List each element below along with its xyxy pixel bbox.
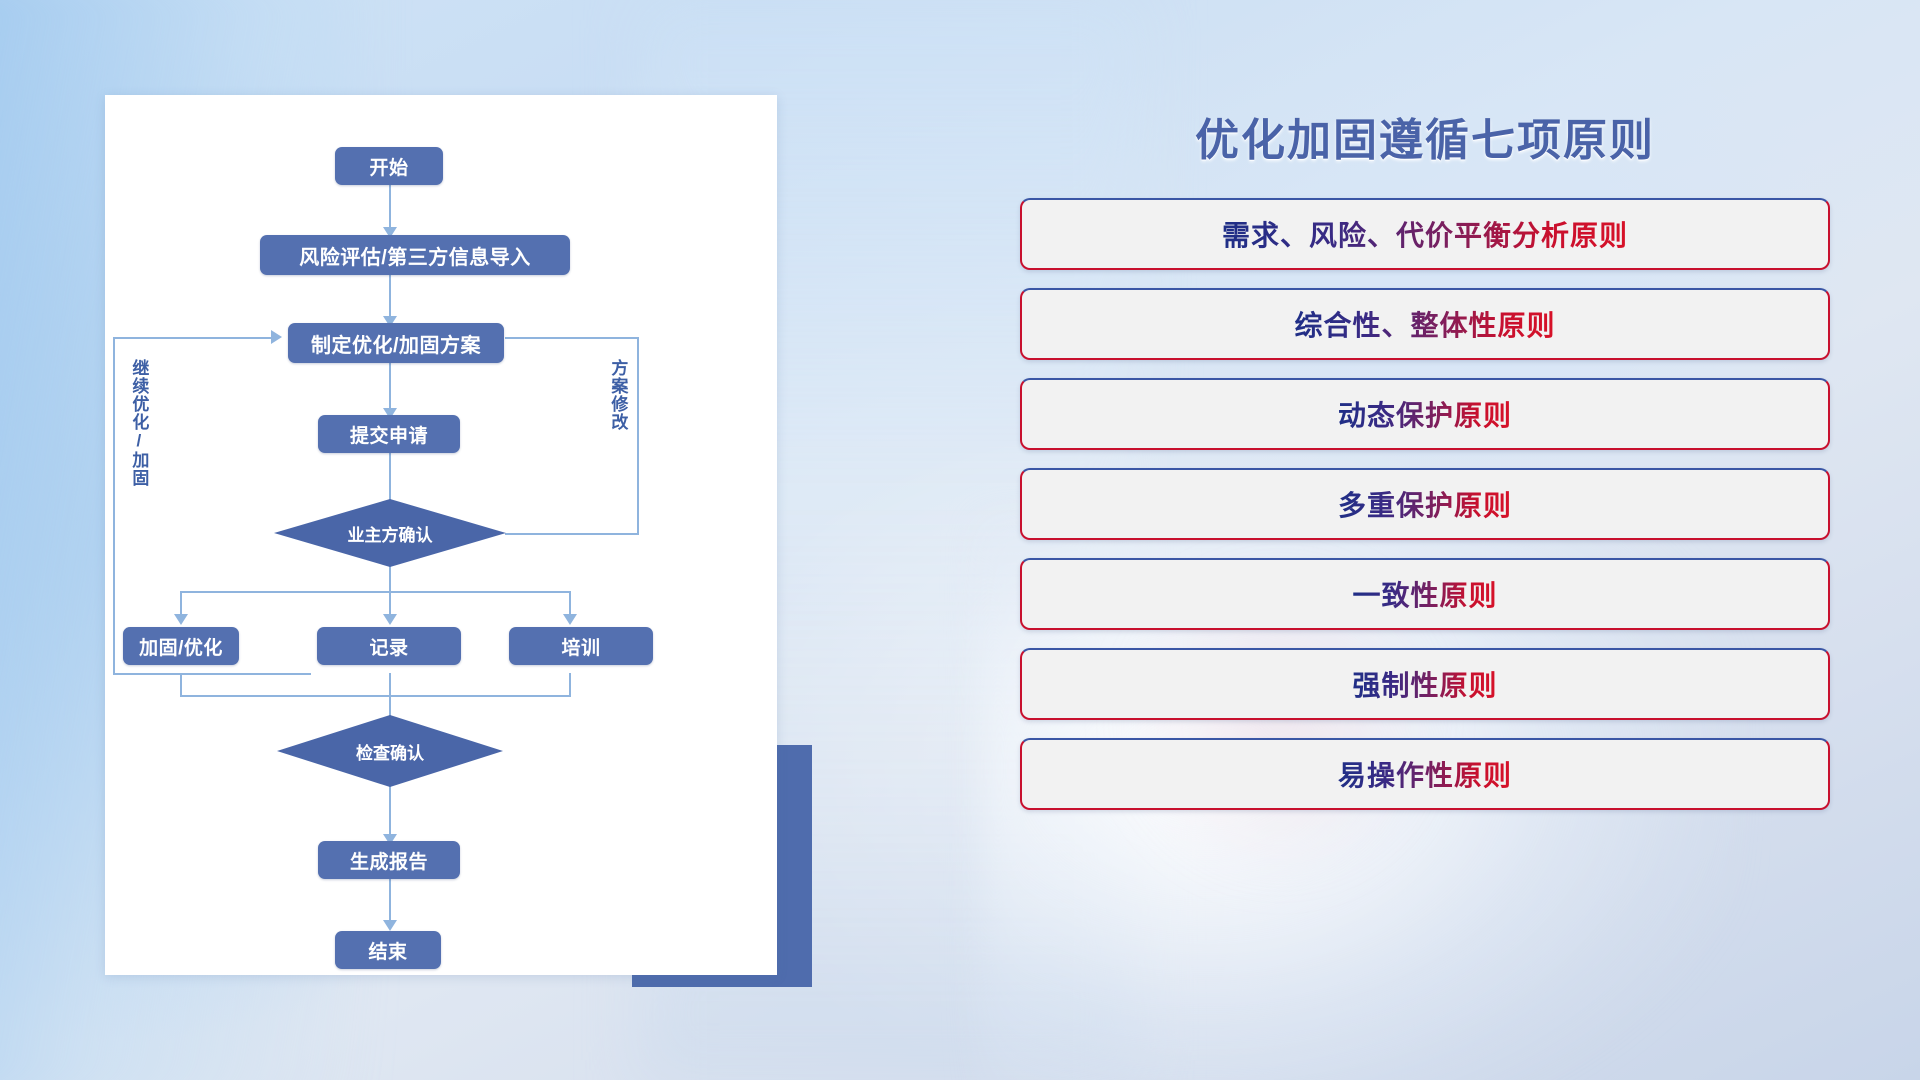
flowchart-card: 开始 风险评估/第三方信息导入 制定优化/加固方案 提交申请 业主方确认 加固/…	[105, 95, 777, 975]
flow-node-plan[interactable]: 制定优化/加固方案	[288, 323, 504, 363]
flow-node-submit[interactable]: 提交申请	[318, 415, 460, 453]
flow-node-record-label: 记录	[369, 633, 408, 660]
connector-plan-to-submit	[389, 361, 391, 413]
principle-card-1[interactable]: 需求、风险、代价平衡分析原则	[1020, 198, 1830, 270]
connector-loop-right-vertical	[637, 337, 639, 535]
flow-node-owner-confirm[interactable]: 业主方确认	[274, 499, 506, 567]
principle-card-2[interactable]: 综合性、整体性原则	[1020, 288, 1830, 360]
flowchart-canvas: 开始 风险评估/第三方信息导入 制定优化/加固方案 提交申请 业主方确认 加固/…	[105, 95, 777, 975]
connector-start-to-risk	[389, 180, 391, 232]
flow-edge-label-continue-optimize: 继续优化/加固	[129, 359, 147, 519]
connector-loop-left-vertical	[113, 337, 115, 675]
principle-card-7[interactable]: 易操作性原则	[1020, 738, 1830, 810]
principle-card-3[interactable]: 动态保护原则	[1020, 378, 1830, 450]
connector-loop-right-top	[505, 337, 639, 339]
flow-node-check-confirm[interactable]: 检查确认	[277, 715, 503, 787]
principle-card-5-label: 一致性原则	[1352, 574, 1497, 614]
principle-card-1-label: 需求、风险、代价平衡分析原则	[1222, 214, 1628, 254]
connector-loop-left-top	[113, 337, 275, 339]
flow-node-risk-assessment-label: 风险评估/第三方信息导入	[299, 241, 531, 270]
connector-merge-training	[569, 673, 571, 697]
flow-edge-label-plan-revision: 方案修改	[608, 359, 626, 477]
connector-merge-reinforce	[180, 673, 182, 697]
flow-node-record[interactable]: 记录	[317, 627, 461, 665]
principle-card-5[interactable]: 一致性原则	[1020, 558, 1830, 630]
flow-node-training[interactable]: 培训	[509, 627, 653, 665]
flow-node-risk-assessment[interactable]: 风险评估/第三方信息导入	[260, 235, 570, 275]
principle-card-7-label: 易操作性原则	[1338, 754, 1512, 794]
arrowhead-branch-record	[383, 614, 397, 625]
flow-node-report[interactable]: 生成报告	[318, 841, 460, 879]
connector-loop-left-bottom	[113, 673, 311, 675]
principle-card-3-label: 动态保护原则	[1338, 394, 1512, 434]
flow-node-reinforce-label: 加固/优化	[139, 633, 223, 660]
flow-node-end-label: 结束	[368, 937, 407, 964]
principles-panel: 优化加固遵循七项原则 需求、风险、代价平衡分析原则 综合性、整体性原则 动态保护…	[1020, 96, 1830, 996]
connector-report-to-end	[389, 879, 391, 925]
flow-node-start-label: 开始	[369, 153, 408, 180]
slide-canvas: 开始 风险评估/第三方信息导入 制定优化/加固方案 提交申请 业主方确认 加固/…	[0, 0, 1920, 1080]
principle-card-6[interactable]: 强制性原则	[1020, 648, 1830, 720]
flow-node-owner-confirm-label: 业主方确认	[348, 521, 433, 546]
principle-card-4-label: 多重保护原则	[1338, 484, 1512, 524]
connector-check-to-report	[389, 785, 391, 839]
principle-card-6-label: 强制性原则	[1352, 664, 1497, 704]
arrowhead-branch-training	[563, 614, 577, 625]
connector-merge-bus	[180, 695, 571, 697]
flow-node-end[interactable]: 结束	[335, 931, 441, 969]
flow-node-start[interactable]: 开始	[335, 147, 443, 185]
connector-risk-to-plan	[389, 271, 391, 321]
connector-threeway-bus	[180, 591, 570, 593]
arrowhead-loop-left-to-plan	[271, 330, 282, 344]
principles-title: 优化加固遵循七项原则	[1020, 104, 1830, 168]
principle-card-4[interactable]: 多重保护原则	[1020, 468, 1830, 540]
flow-node-training-label: 培训	[561, 633, 600, 660]
arrowhead-branch-reinforce	[174, 614, 188, 625]
connector-owner-right	[505, 533, 639, 535]
flow-node-reinforce[interactable]: 加固/优化	[123, 627, 239, 665]
principle-card-2-label: 综合性、整体性原则	[1294, 304, 1555, 344]
flow-node-plan-label: 制定优化/加固方案	[311, 329, 481, 358]
arrowhead-report-to-end	[383, 920, 397, 931]
flow-node-report-label: 生成报告	[350, 847, 428, 874]
flow-node-check-confirm-label: 检查确认	[356, 739, 424, 764]
flow-node-submit-label: 提交申请	[350, 421, 428, 448]
